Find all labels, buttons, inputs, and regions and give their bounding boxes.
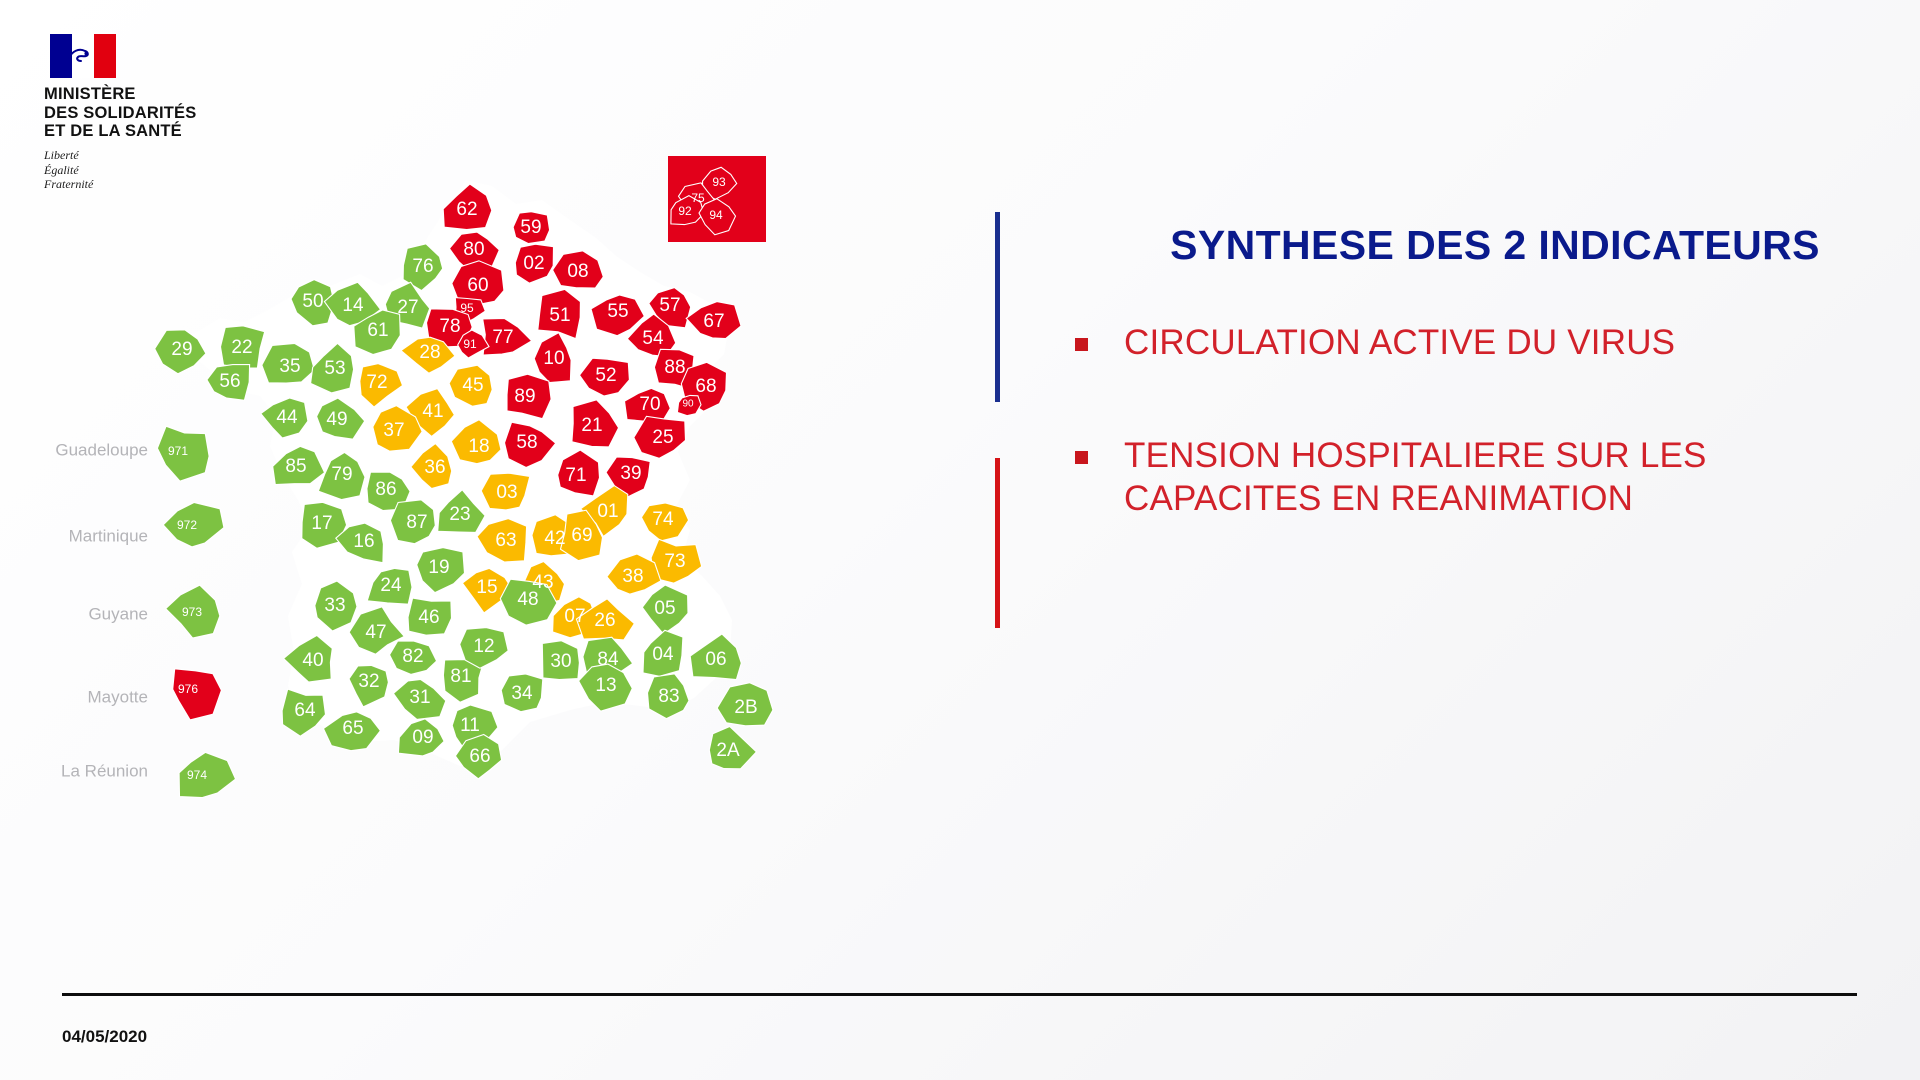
department-label-50: 50 (302, 291, 323, 312)
department-label-87: 87 (406, 512, 427, 533)
department-label-29: 29 (171, 339, 192, 360)
department-label-39: 39 (620, 463, 641, 484)
department-label-19: 19 (428, 557, 449, 578)
blue-accent-rule (995, 212, 1000, 402)
department-label-84: 84 (597, 649, 619, 670)
department-label-91: 91 (463, 337, 477, 351)
department-label-14: 14 (342, 295, 364, 316)
department-label-08: 08 (567, 261, 588, 282)
department-label-32: 32 (358, 671, 379, 692)
department-label-51: 51 (549, 305, 570, 326)
department-label-02: 02 (523, 253, 544, 274)
department-label-24: 24 (380, 575, 402, 596)
overseas-label-973: 973 (182, 605, 202, 619)
department-label-26: 26 (594, 610, 615, 631)
overseas-name-973: Guyane (88, 604, 148, 623)
department-label-82: 82 (402, 646, 423, 667)
department-label-64: 64 (294, 700, 316, 721)
overseas-label-974: 974 (187, 768, 207, 782)
department-label-92: 92 (678, 204, 692, 218)
department-label-88: 88 (664, 357, 685, 378)
department-label-04: 04 (652, 644, 674, 665)
department-label-36: 36 (424, 457, 445, 478)
overseas-name-974: La Réunion (61, 761, 148, 780)
department-label-53: 53 (324, 358, 345, 379)
department-label-30: 30 (550, 651, 571, 672)
department-label-58: 58 (516, 432, 537, 453)
department-label-09: 09 (412, 727, 433, 748)
department-label-03: 03 (496, 482, 517, 503)
department-label-01: 01 (597, 501, 618, 522)
department-label-69: 69 (571, 525, 592, 546)
department-label-57: 57 (659, 295, 680, 316)
indicator-label-1: CIRCULATION ACTIVE DU VIRUS (1124, 322, 1675, 365)
department-label-94: 94 (709, 208, 723, 222)
department-label-56: 56 (219, 371, 240, 392)
department-label-13: 13 (595, 675, 616, 696)
department-label-90: 90 (682, 399, 694, 410)
department-label-10: 10 (543, 348, 564, 369)
department-label-86: 86 (375, 479, 396, 500)
department-label-41: 41 (422, 401, 443, 422)
overseas-label-971: 971 (168, 444, 188, 458)
bullet-square-icon (1075, 451, 1088, 464)
department-label-54: 54 (642, 328, 664, 349)
department-label-67: 67 (703, 311, 724, 332)
department-label-79: 79 (331, 464, 352, 485)
department-label-77: 77 (492, 327, 513, 348)
indicator-item-1: CIRCULATION ACTIVE DU VIRUS (1075, 322, 1675, 365)
department-label-33: 33 (324, 595, 345, 616)
department-label-48: 48 (517, 589, 538, 610)
department-label-76: 76 (412, 256, 433, 277)
department-label-89: 89 (514, 386, 535, 407)
department-label-45: 45 (462, 375, 483, 396)
overseas-name-972: Martinique (69, 526, 148, 545)
department-label-47: 47 (365, 622, 386, 643)
slide-root: MINISTÈRE DES SOLIDARITÉS ET DE LA SANTÉ… (0, 0, 1920, 1080)
department-label-95: 95 (460, 301, 474, 315)
department-label-42: 42 (544, 528, 565, 549)
department-label-27: 27 (397, 297, 418, 318)
department-label-44: 44 (276, 407, 298, 428)
indicator-label-2: TENSION HOSPITALIERE SUR LES CAPACITES E… (1124, 435, 1895, 520)
department-label-72: 72 (366, 372, 387, 393)
department-label-12: 12 (473, 636, 494, 657)
department-label-38: 38 (622, 566, 643, 587)
department-label-22: 22 (231, 337, 252, 358)
department-label-34: 34 (511, 683, 533, 704)
department-label-60: 60 (467, 275, 488, 296)
department-label-25: 25 (652, 427, 673, 448)
overseas-label-972: 972 (177, 518, 197, 532)
department-label-74: 74 (652, 509, 674, 530)
department-label-16: 16 (353, 531, 374, 552)
department-label-73: 73 (664, 551, 685, 572)
department-label-75: 75 (691, 191, 705, 205)
department-label-2B: 2B (734, 697, 757, 718)
department-label-07: 07 (564, 606, 585, 627)
indicator-item-2: TENSION HOSPITALIERE SUR LES CAPACITES E… (1075, 435, 1895, 520)
overseas-label-976: 976 (178, 682, 198, 696)
footer-date: 04/05/2020 (62, 1027, 147, 1047)
department-label-55: 55 (607, 301, 628, 322)
footer-divider (62, 993, 1857, 996)
department-label-78: 78 (439, 316, 460, 337)
page-title: SYNTHESE DES 2 INDICATEURS (1100, 222, 1890, 269)
department-label-21: 21 (581, 415, 602, 436)
department-label-49: 49 (326, 409, 347, 430)
department-label-66: 66 (469, 746, 490, 767)
department-label-71: 71 (565, 465, 586, 486)
department-label-81: 81 (450, 666, 471, 687)
department-label-40: 40 (302, 650, 323, 671)
department-label-70: 70 (639, 394, 660, 415)
department-label-11: 11 (460, 715, 480, 736)
department-label-2A: 2A (716, 740, 740, 761)
department-label-18: 18 (468, 436, 489, 457)
bullet-square-icon (1075, 338, 1088, 351)
department-label-62: 62 (456, 199, 477, 220)
department-label-28: 28 (419, 342, 440, 363)
department-label-37: 37 (383, 420, 404, 441)
map-svg: 6259800208766051555767501427957877619154… (30, 60, 950, 890)
department-label-93: 93 (712, 175, 726, 189)
department-label-59: 59 (520, 217, 541, 238)
department-label-83: 83 (658, 686, 679, 707)
department-label-65: 65 (342, 718, 363, 739)
department-label-15: 15 (476, 577, 497, 598)
department-label-85: 85 (285, 456, 306, 477)
department-label-23: 23 (449, 504, 470, 525)
department-label-06: 06 (705, 649, 726, 670)
department-label-80: 80 (463, 239, 484, 260)
department-label-35: 35 (279, 356, 300, 377)
red-accent-rule (995, 458, 1000, 628)
overseas-name-976: Mayotte (88, 687, 148, 706)
france-departments-map: 6259800208766051555767501427957877619154… (30, 60, 950, 890)
department-label-61: 61 (367, 320, 388, 341)
department-label-17: 17 (311, 513, 332, 534)
overseas-name-971: Guadeloupe (55, 440, 148, 459)
department-label-31: 31 (409, 687, 430, 708)
department-label-63: 63 (495, 530, 516, 551)
department-label-52: 52 (595, 365, 616, 386)
department-label-05: 05 (654, 598, 675, 619)
department-label-46: 46 (418, 607, 439, 628)
department-label-68: 68 (695, 376, 716, 397)
